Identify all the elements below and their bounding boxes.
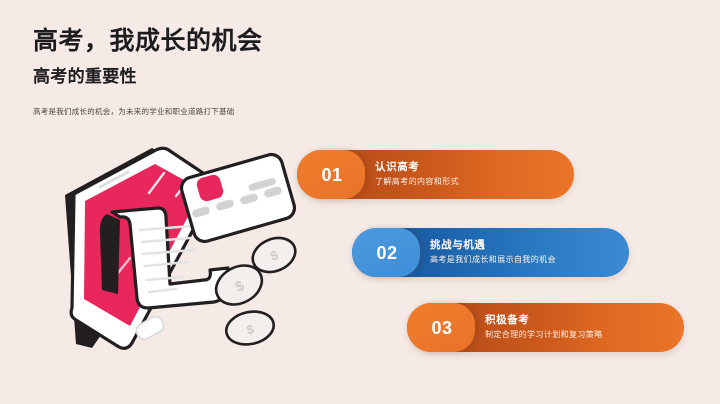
- card-text: 挑战与机遇 高考是我们成长和展示自我的机会: [430, 228, 556, 277]
- card-description: 高考是我们成长和展示自我的机会: [430, 256, 556, 265]
- header: 高考，我成长的机会 高考的重要性 高考是我们成长的机会，为未来的学业和职业道路打…: [33, 26, 453, 117]
- card-number: 01: [319, 166, 342, 184]
- card-number: 03: [429, 319, 452, 337]
- card-title: 挑战与机遇: [430, 240, 556, 252]
- card-item-03[interactable]: 03 积极备考 制定合理的学习计划和复习策略: [407, 303, 684, 352]
- card-description: 了解高考的内容和形式: [375, 178, 459, 187]
- page-description: 高考是我们成长的机会，为未来的学业和职业道路打下基础: [33, 106, 453, 117]
- card-item-02[interactable]: 02 挑战与机遇 高考是我们成长和展示自我的机会: [352, 228, 629, 277]
- card-description: 制定合理的学习计划和复习策略: [485, 331, 603, 340]
- page-subtitle: 高考的重要性: [33, 66, 453, 87]
- card-item-01[interactable]: 01 认识高考 了解高考的内容和形式: [297, 150, 574, 199]
- card-text: 积极备考 制定合理的学习计划和复习策略: [485, 303, 603, 352]
- card-title: 认识高考: [375, 162, 459, 174]
- coins-icon: $ $ $: [209, 232, 300, 349]
- card-text: 认识高考 了解高考的内容和形式: [375, 150, 459, 199]
- card-number-badge: 03: [407, 303, 475, 352]
- page-title: 高考，我成长的机会: [33, 26, 453, 57]
- illustration: $ $ $: [52, 138, 302, 370]
- credit-card-icon: [179, 152, 297, 244]
- card-title: 积极备考: [485, 315, 603, 327]
- card-number-badge: 02: [352, 228, 420, 277]
- slide-root: 高考，我成长的机会 高考的重要性 高考是我们成长的机会，为未来的学业和职业道路打…: [0, 0, 720, 404]
- card-number: 02: [374, 244, 397, 262]
- card-number-badge: 01: [297, 150, 365, 199]
